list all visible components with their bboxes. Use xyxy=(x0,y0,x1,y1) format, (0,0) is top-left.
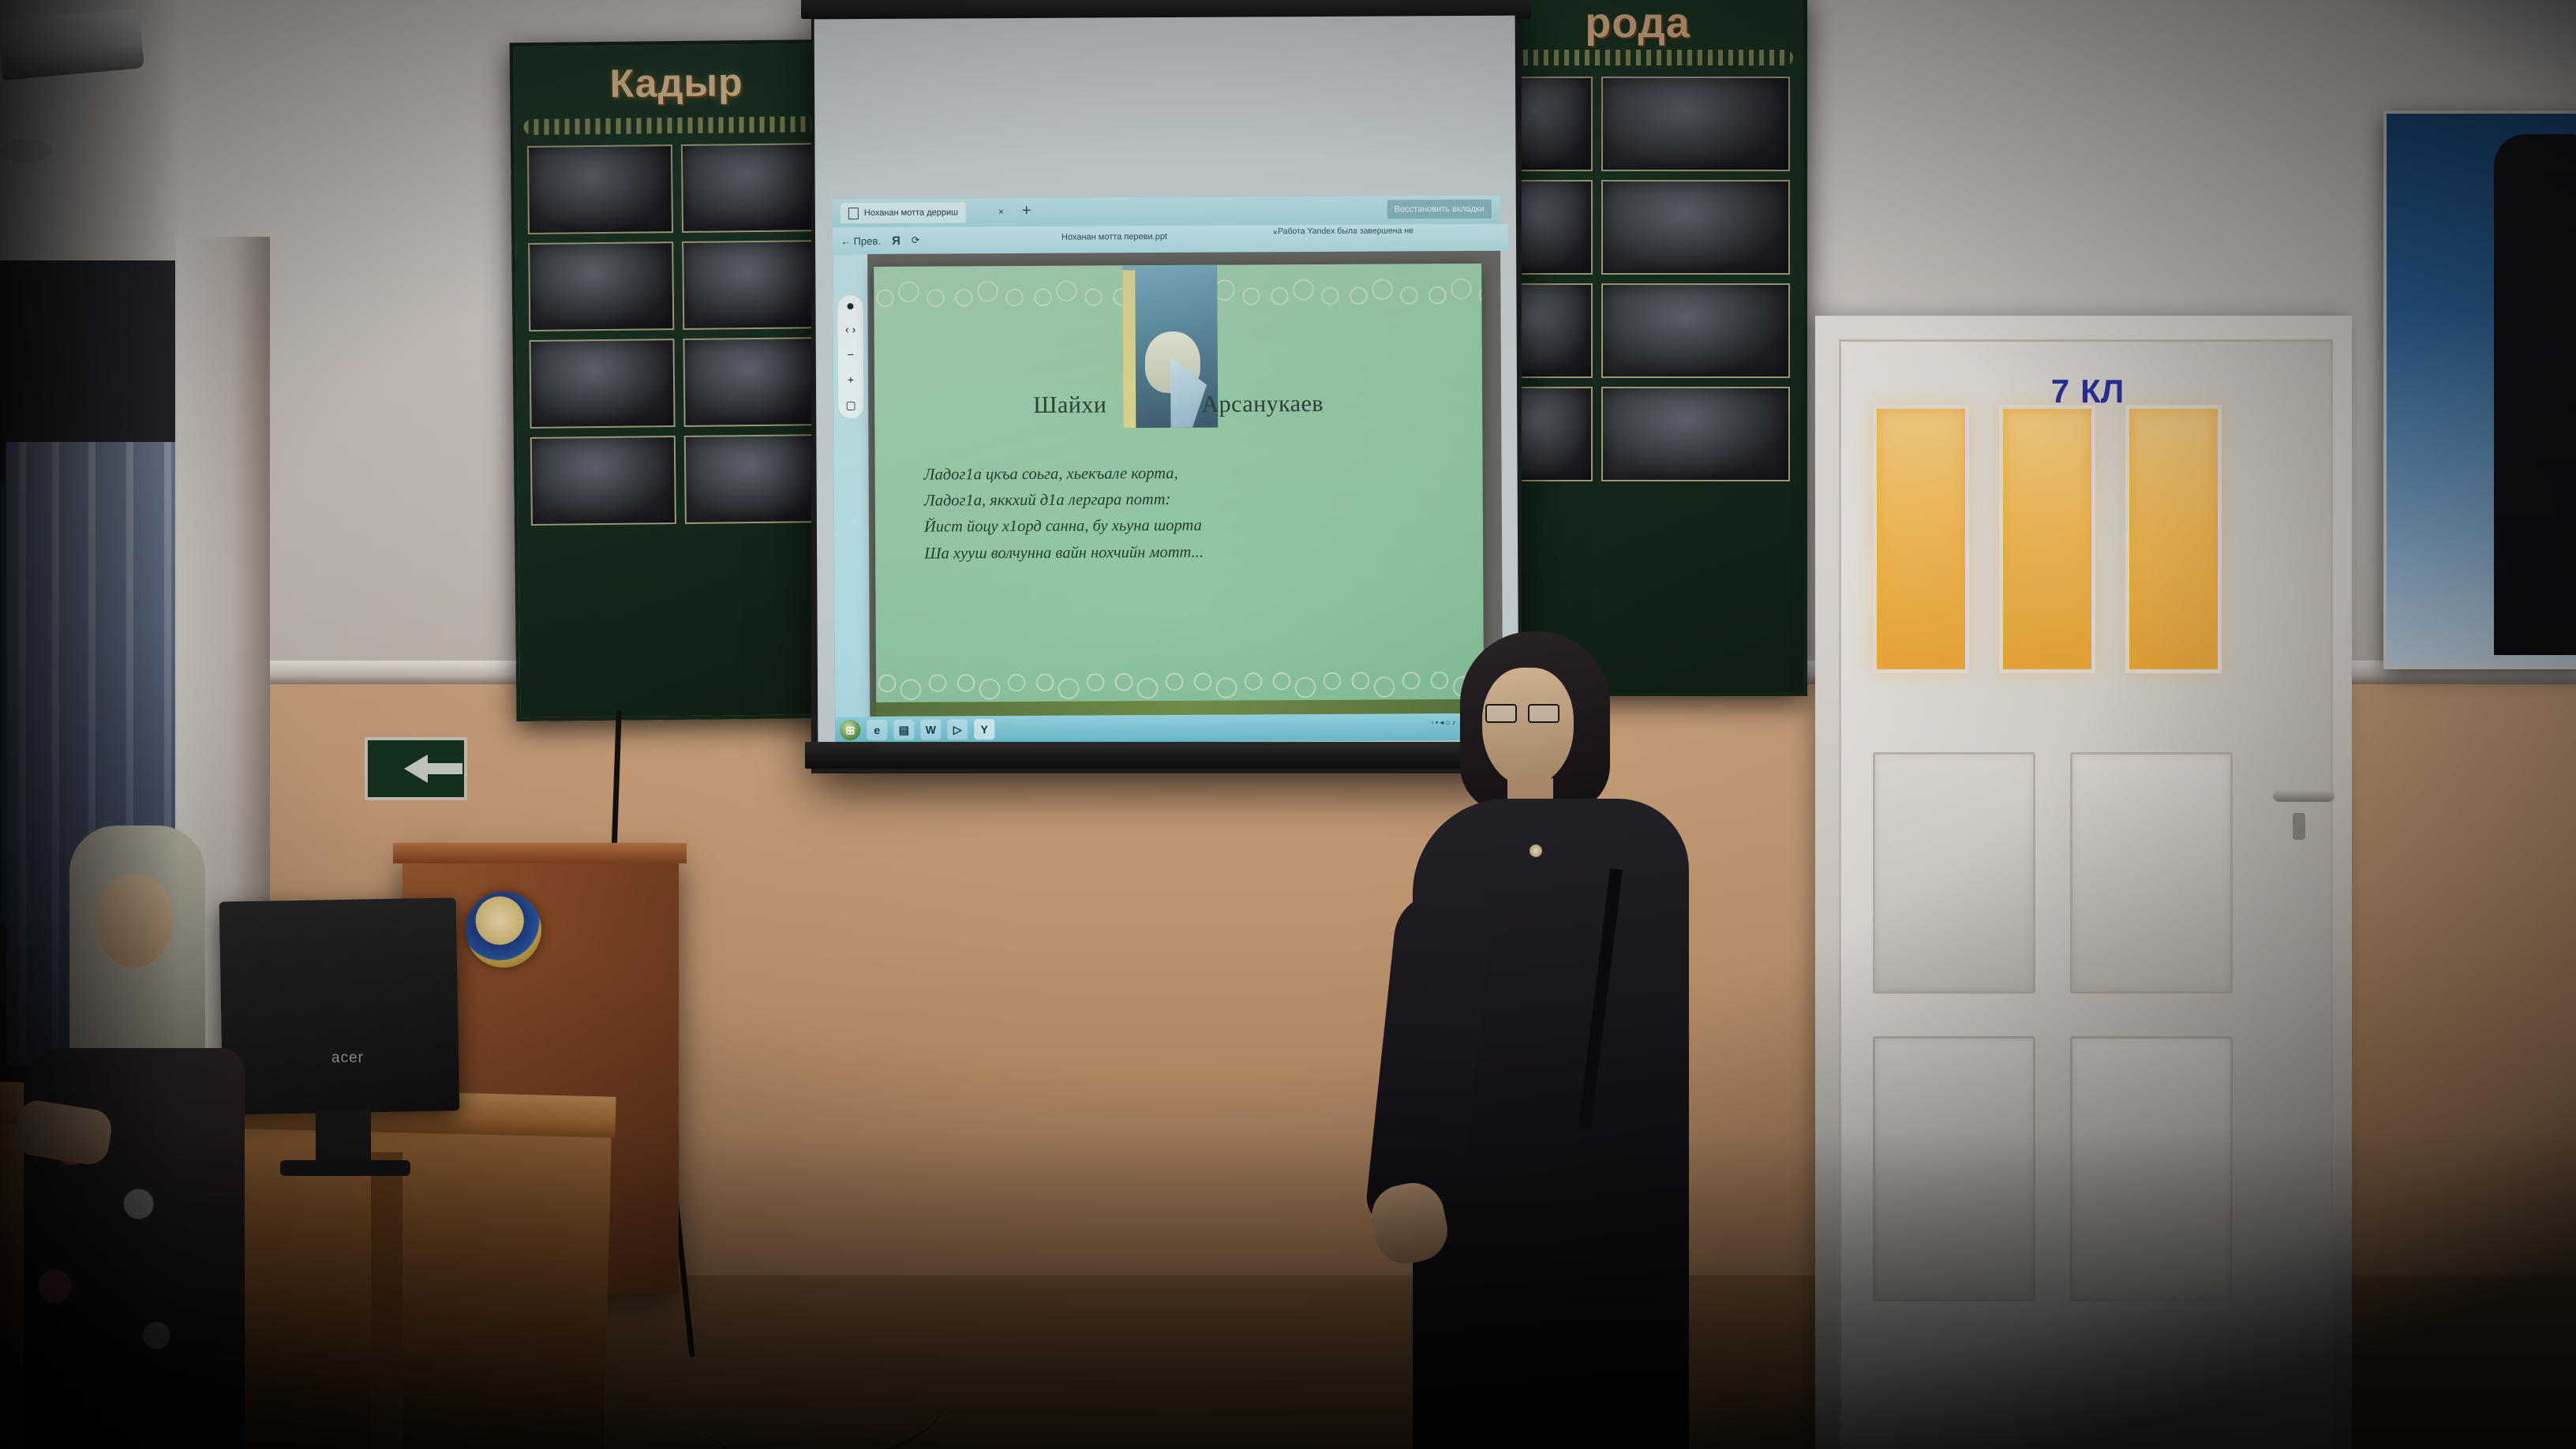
podium-top xyxy=(393,843,687,863)
chechen-republic-emblem xyxy=(466,892,541,968)
poem-line: Ладог1а, яккхий д1а лергара потт: xyxy=(924,485,1429,515)
board-photo xyxy=(1601,283,1790,378)
new-tab-icon[interactable]: + xyxy=(1022,203,1032,219)
board-photo xyxy=(683,240,829,330)
poet-last-name: Арсанукаев xyxy=(1201,391,1324,418)
fit-page-icon[interactable]: ▢ xyxy=(845,399,856,410)
door-glass-panel xyxy=(2125,405,2222,673)
board-photo xyxy=(683,337,829,427)
door-glass-panel xyxy=(1873,405,1969,673)
teacher-face xyxy=(1482,668,1574,786)
exit-sign xyxy=(365,737,467,800)
browser-tab-label: Ноханан мотта дерриш xyxy=(864,208,958,218)
board-photo xyxy=(681,143,827,233)
back-button[interactable]: ← Прев. xyxy=(841,234,881,246)
board-left-title: Кадыр xyxy=(609,59,743,107)
board-photo xyxy=(529,241,675,331)
start-button[interactable]: ⊞ xyxy=(840,720,860,740)
door-lock-icon[interactable] xyxy=(2293,813,2305,840)
board-photo xyxy=(1601,180,1790,275)
classroom-label: КЛ xyxy=(2080,373,2124,410)
brooch-icon xyxy=(1529,844,1542,857)
poem-block: Ладог1а цкъа соьга, хьекъале корта, Ладо… xyxy=(924,459,1430,567)
board-photo xyxy=(527,144,673,234)
door-handle[interactable] xyxy=(2273,789,2334,802)
browser-title-bar: Ноханан мотта дерриш × + Восстановить вк… xyxy=(833,196,1500,227)
reload-icon[interactable]: ⟳ xyxy=(912,234,920,247)
yandex-crash-notice: Работа Yandex была завершена не xyxy=(1278,226,1413,236)
pdf-sidebar: ‹ › − + ▢ xyxy=(833,254,870,743)
board-photo xyxy=(530,339,676,429)
pdf-toolbar: ‹ › − + ▢ xyxy=(837,295,863,418)
browser-tab[interactable]: Ноханан мотта дерриш xyxy=(841,202,966,223)
slide-title-row: Шайхи Арсанукаев xyxy=(874,390,1482,420)
poem-line: Ша хууш волчунна вайн нохчийн мотт... xyxy=(924,538,1429,567)
classroom-photo-scene: Кадыр рода xyxy=(0,0,2576,1449)
door-panel xyxy=(2070,752,2233,994)
board-photo xyxy=(684,434,830,524)
media-player-icon[interactable]: ▷ xyxy=(947,719,968,739)
zoom-in-icon[interactable]: + xyxy=(848,374,854,385)
board-left-photo-grid xyxy=(527,143,830,526)
file-explorer-icon[interactable]: ▤ xyxy=(893,720,914,740)
classroom-number: 7 xyxy=(2051,373,2069,410)
board-photo xyxy=(530,436,676,526)
wall-board-left: Кадыр xyxy=(510,39,850,721)
bottom-shadow-overlay xyxy=(0,1130,2576,1449)
browser-address-bar: ← Прев. Я ⟳ Ноханан мотта переви.ppt × Р… xyxy=(833,224,1508,254)
door-panel xyxy=(1873,752,2035,994)
board-left-header: Кадыр xyxy=(514,51,840,114)
poster-person-silhouette xyxy=(2494,134,2576,655)
board-photo xyxy=(1601,77,1790,171)
exit-arrow-icon xyxy=(404,754,428,783)
monitor-brand-label: acer xyxy=(331,1050,402,1067)
internet-explorer-icon[interactable]: e xyxy=(867,720,887,740)
page-icon xyxy=(848,208,859,219)
yandex-search-icon[interactable]: Я xyxy=(892,234,900,247)
word-icon[interactable]: W xyxy=(920,720,941,740)
board-ornament xyxy=(1482,50,1794,66)
acer-monitor xyxy=(219,897,460,1114)
yandex-browser-icon[interactable]: Y xyxy=(974,719,994,739)
zoom-out-icon[interactable]: − xyxy=(848,349,854,360)
door-glass-panel xyxy=(1999,405,2095,673)
document-filename: Ноханан мотта переви.ppt xyxy=(1061,232,1167,242)
restore-tabs-button[interactable]: Восстановить вкладки xyxy=(1387,199,1492,220)
poem-line: Йист йоцу х1орд санна, бу хьуна шорта xyxy=(924,512,1429,541)
pdf-page-nav[interactable]: ‹ › xyxy=(845,324,856,335)
poet-first-name: Шайхи xyxy=(1033,391,1106,418)
classroom-number-sign: 7 КЛ xyxy=(2016,368,2159,415)
board-photo xyxy=(1601,387,1790,481)
eyeglasses-icon xyxy=(1485,704,1558,721)
poem-line: Ладог1а цкъа соьга, хьекъале корта, xyxy=(924,459,1429,489)
board-right-photo-grid xyxy=(1485,77,1790,481)
board-ornament xyxy=(524,116,829,135)
page-indicator-dot xyxy=(847,303,853,309)
board-right-title: рода xyxy=(1585,0,1690,47)
presentation-slide: Шайхи Арсанукаев Ладог1а цкъа соьга, хье… xyxy=(874,264,1484,721)
tab-close-icon[interactable]: × xyxy=(998,206,1004,217)
